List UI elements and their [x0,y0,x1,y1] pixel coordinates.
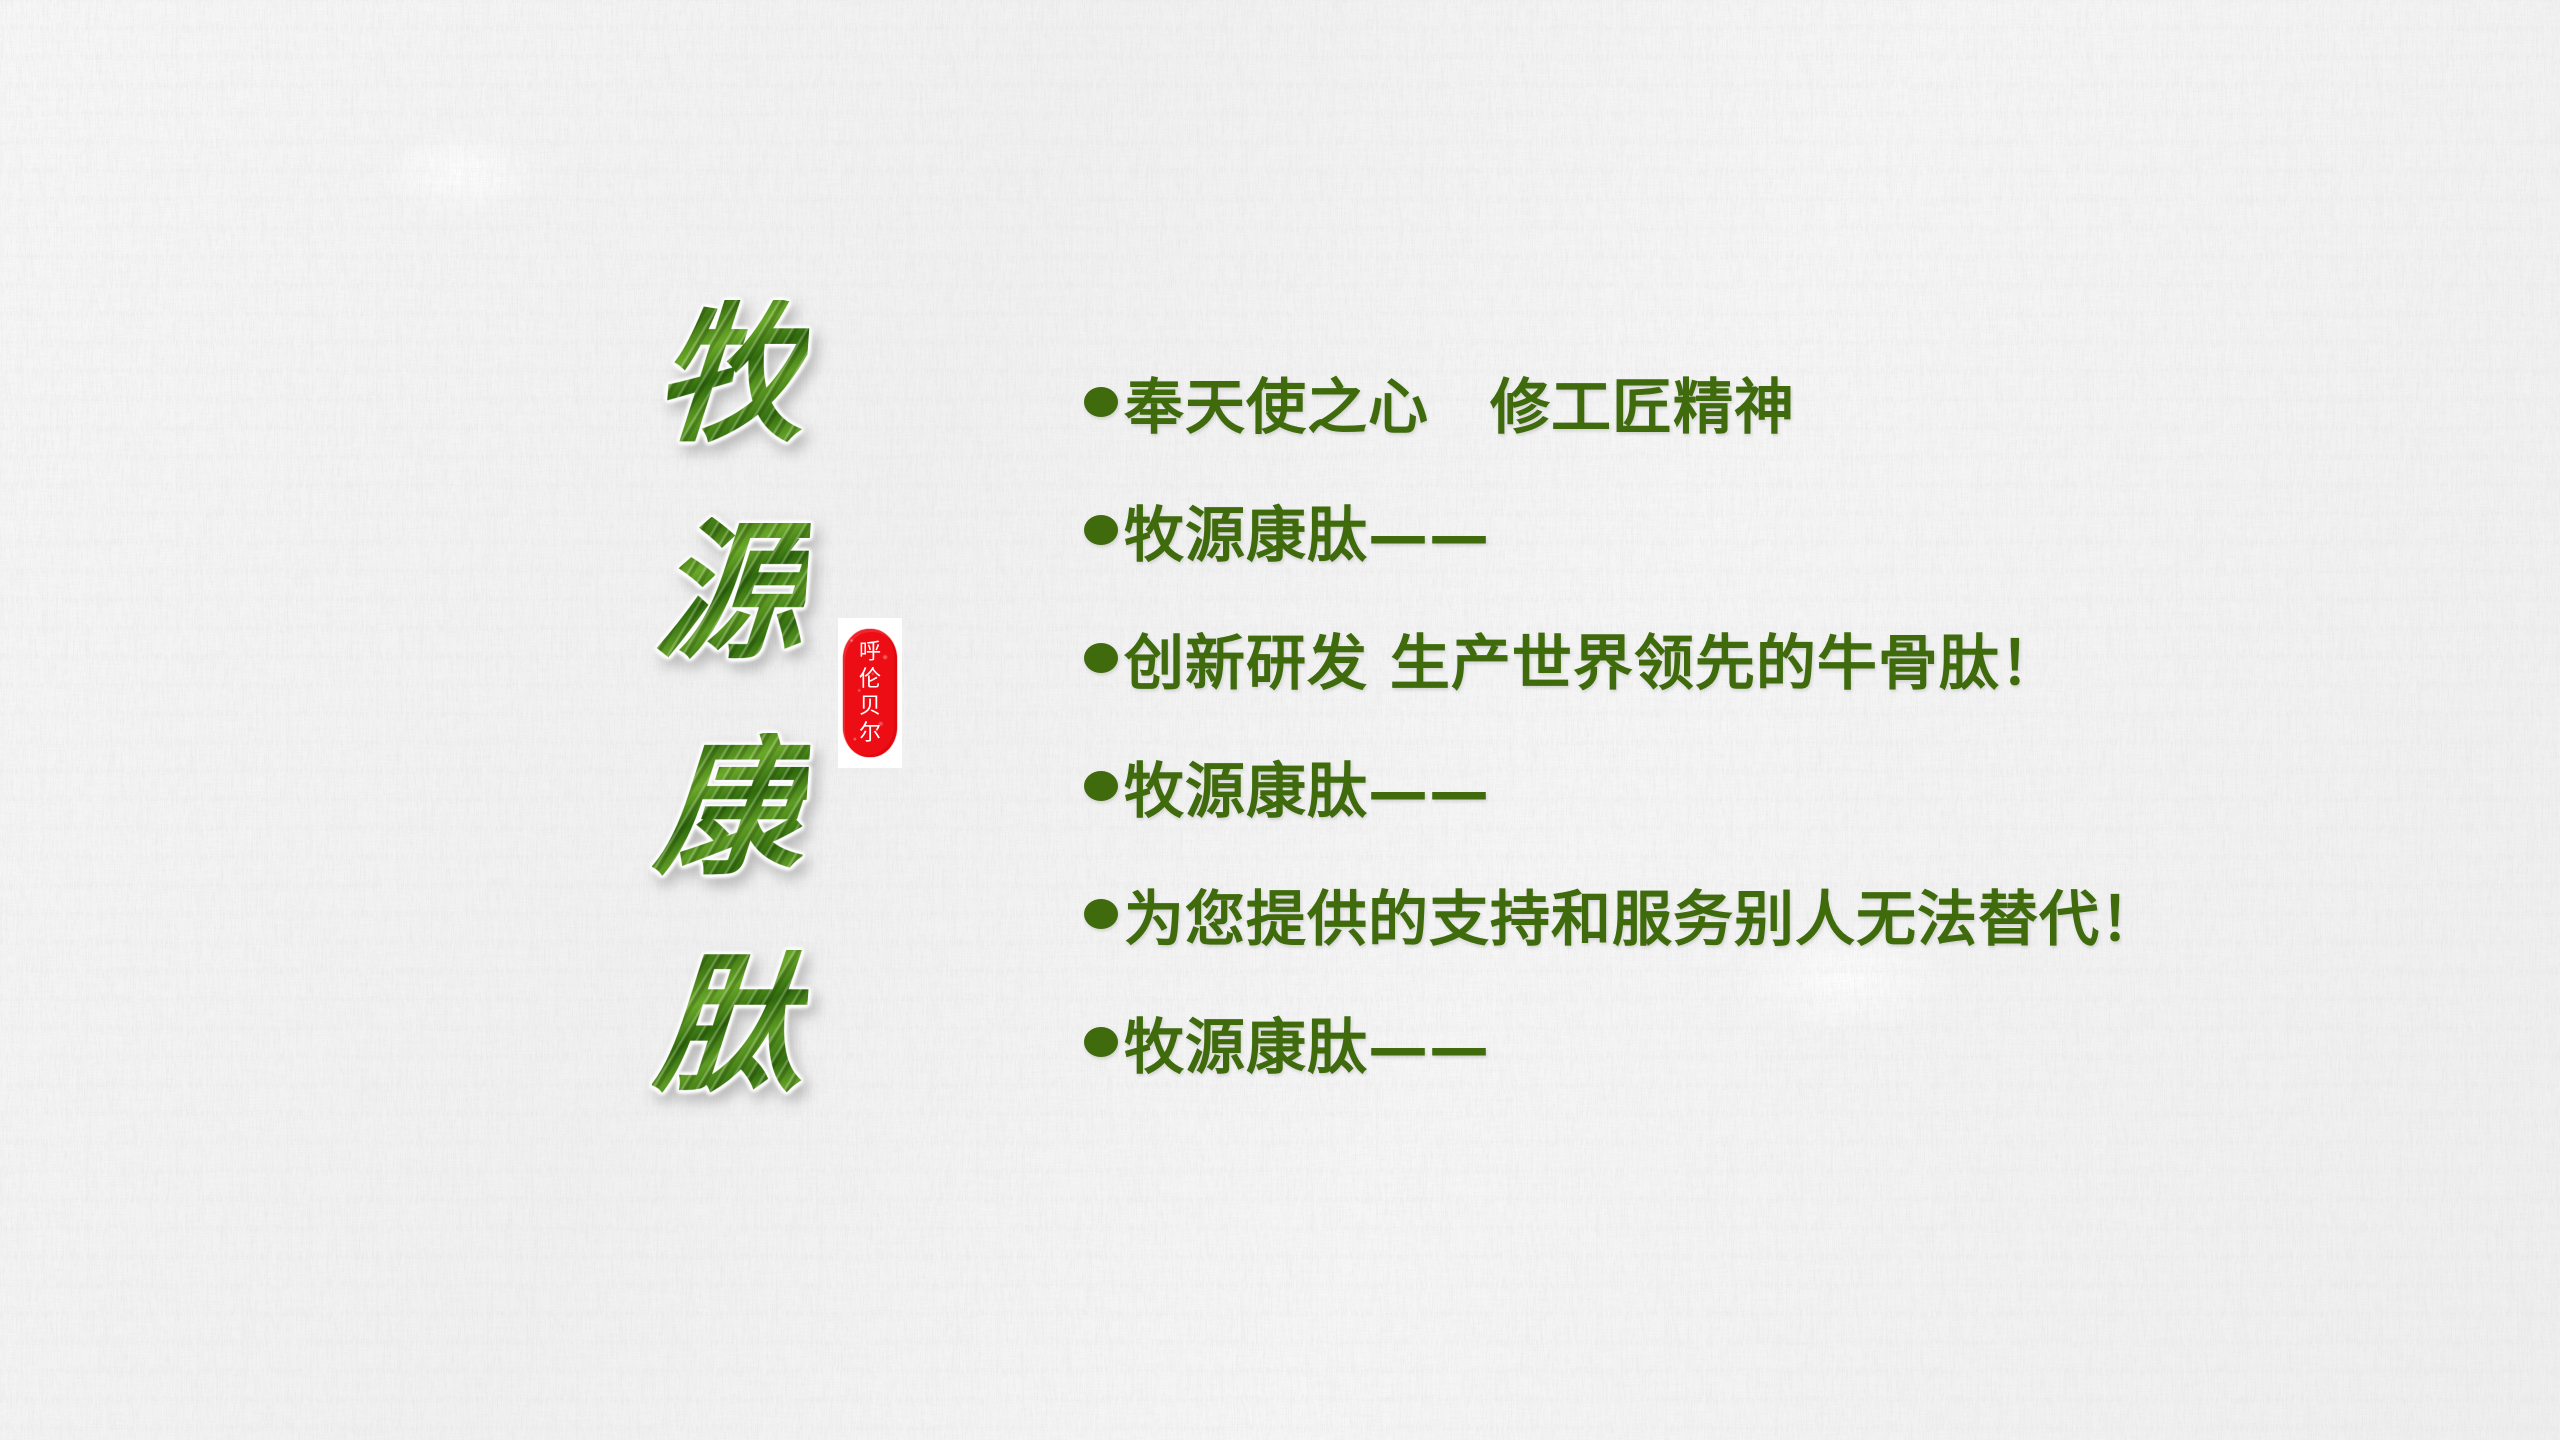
seal-char-2: 伦 [859,667,881,693]
slogan-item-3: 创新研发 生产世界领先的牛骨肽！ [1084,594,2484,722]
bullet-dot-icon [1084,643,1118,673]
slogan-item-5: 为您提供的支持和服务别人无法替代！ [1084,850,2484,978]
brand-title-char-3: 康 [651,733,812,883]
slogan-list: 奉天使之心 修工匠精神 牧源康肽—— 创新研发 生产世界领先的牛骨肽！ 牧源康肽… [1084,338,2484,1106]
bullet-dot-icon [1084,899,1118,929]
brand-title-char-1: 牧 [651,300,812,450]
slogan-item-4: 牧源康肽—— [1084,722,2484,850]
bullet-dot-icon [1084,1027,1118,1057]
slogan-text-5: 为您提供的支持和服务别人无法替代！ [1124,871,2161,958]
slogan-item-6: 牧源康肽—— [1084,978,2484,1106]
bullet-dot-icon [1084,515,1118,545]
slogan-text-1: 奉天使之心 修工匠精神 [1124,359,1795,446]
seal-char-4: 尔 [859,721,881,747]
slogan-text-2: 牧源康肽—— [1124,487,1490,574]
slogan-text-4: 牧源康肽—— [1124,743,1490,830]
bullet-dot-icon [1084,387,1118,417]
brand-title-vertical: 牧 源 康 肽 [636,300,826,1100]
seal-char-1: 呼 [859,640,881,666]
slogan-text-6: 牧源康肽—— [1124,999,1490,1086]
seal-body: 呼 伦 贝 尔 [843,629,897,757]
bullet-dot-icon [1084,771,1118,801]
brand-title-char-2: 源 [651,517,812,667]
slogan-item-2: 牧源康肽—— [1084,466,2484,594]
seal-stamp: 呼 伦 贝 尔 [838,618,902,768]
brand-title-char-4: 肽 [651,950,812,1100]
slogan-item-1: 奉天使之心 修工匠精神 [1084,338,2484,466]
seal-char-3: 贝 [859,694,881,720]
slogan-text-3: 创新研发 生产世界领先的牛骨肽！ [1124,615,2061,702]
